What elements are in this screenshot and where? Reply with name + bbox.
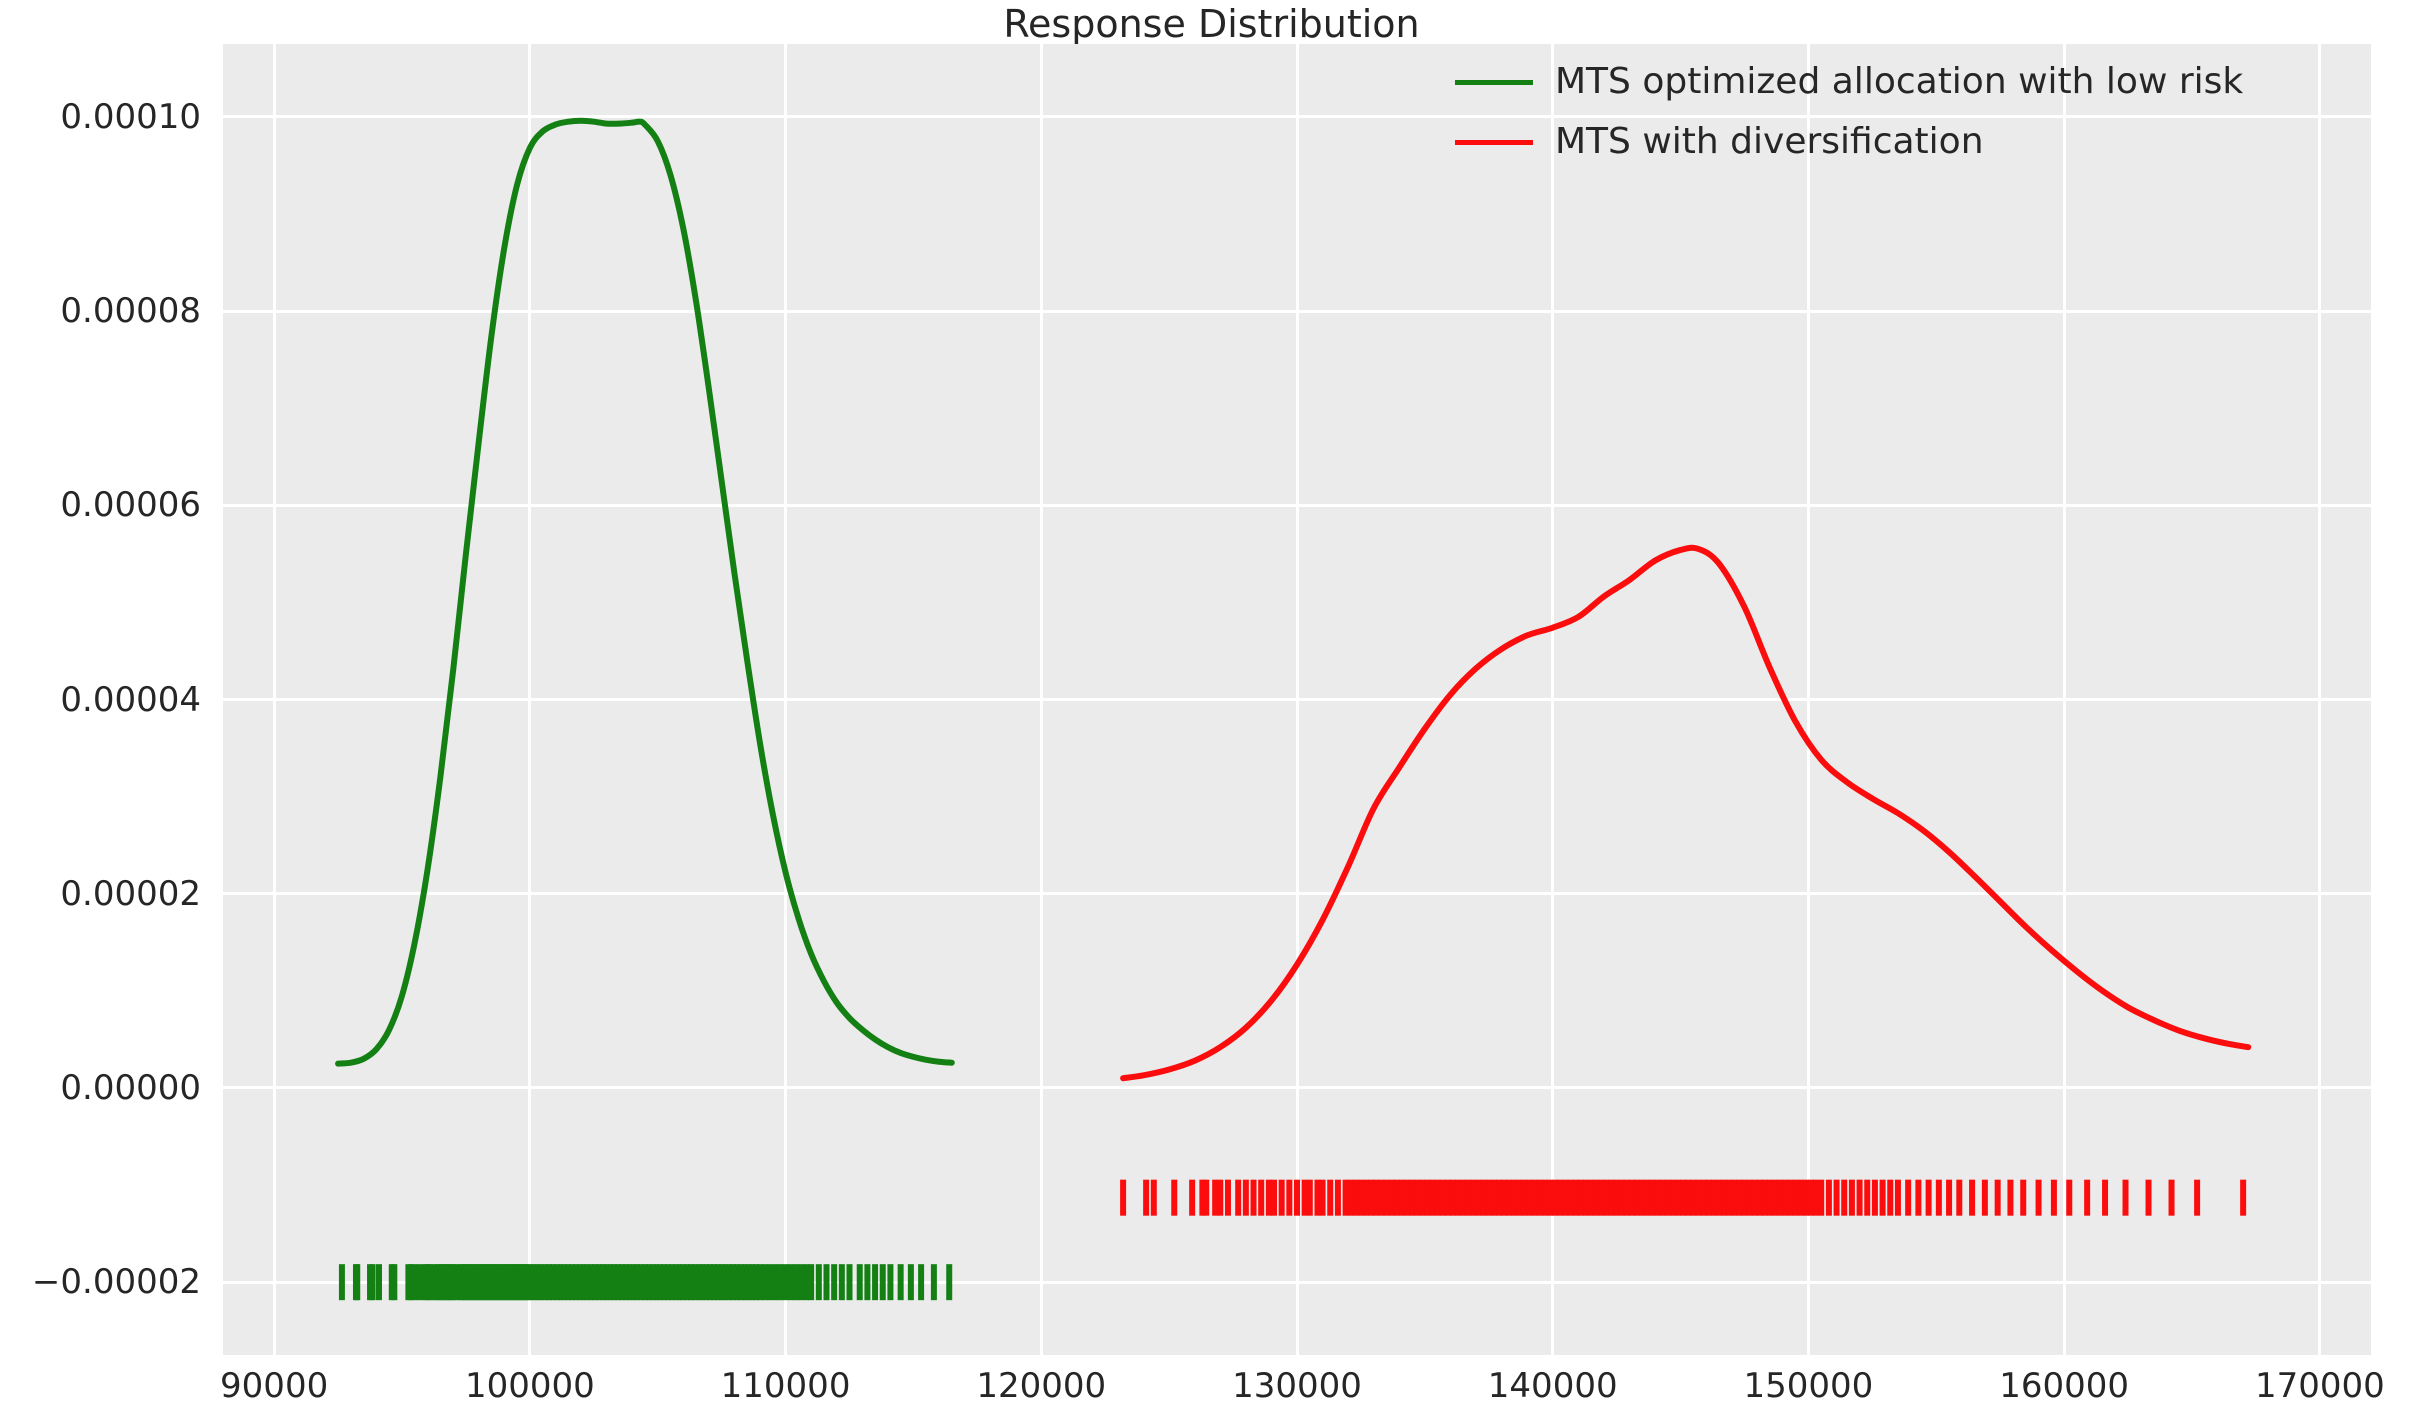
rug-tick — [1747, 1180, 1753, 1216]
rug-tick — [1818, 1180, 1824, 1216]
rug-tick — [1772, 1180, 1778, 1216]
rug-tick — [1266, 1180, 1272, 1216]
rug-tick — [1435, 1180, 1441, 1216]
rug-tick — [788, 1264, 794, 1300]
rug-tick — [1665, 1180, 1671, 1216]
rug-tick — [1225, 1180, 1231, 1216]
rug-tick — [1171, 1180, 1177, 1216]
rug-tick — [2007, 1180, 2013, 1216]
y-tick-label: 0.00004 — [0, 680, 201, 720]
rug-tick — [2123, 1180, 2129, 1216]
rug-tick — [1327, 1180, 1333, 1216]
x-tick-label: 120000 — [911, 1366, 1171, 1406]
rug-tick — [1808, 1180, 1814, 1216]
rug-tick — [1373, 1180, 1379, 1216]
rug-tick — [2051, 1180, 2057, 1216]
rug-tick — [898, 1264, 904, 1300]
rug-tick — [1445, 1180, 1451, 1216]
rug-tick — [1151, 1180, 1157, 1216]
rug-tick — [1557, 1180, 1563, 1216]
x-tick-label: 110000 — [656, 1366, 916, 1406]
rug-tick — [1450, 1180, 1456, 1216]
rug-tick — [1552, 1180, 1558, 1216]
rug-tick — [1368, 1180, 1374, 1216]
rug-tick — [1670, 1180, 1676, 1216]
rug-tick — [1547, 1180, 1553, 1216]
rug-tick — [1506, 1180, 1512, 1216]
rug-tick — [1537, 1180, 1543, 1216]
legend-item[interactable]: MTS with diversification — [1455, 116, 2243, 168]
rug-tick — [803, 1264, 809, 1300]
rug-tick — [1460, 1180, 1466, 1216]
rug-tick — [1905, 1180, 1911, 1216]
figure-canvas: Response Distribution −0.000020.000000.0… — [0, 0, 2423, 1423]
rug-tick — [1491, 1180, 1497, 1216]
rug-tick — [1343, 1180, 1349, 1216]
rug-tick — [1568, 1180, 1574, 1216]
rug-tick — [1826, 1180, 1832, 1216]
rug-tick — [1872, 1180, 1878, 1216]
rug-tick — [767, 1264, 773, 1300]
x-tick-label: 160000 — [1934, 1366, 2194, 1406]
chart-legend: MTS optimized allocation with low riskMT… — [1455, 56, 2243, 168]
rug-tick — [1358, 1180, 1364, 1216]
rug-tick — [783, 1264, 789, 1300]
rug-tick — [823, 1264, 829, 1300]
rug-tick — [1511, 1180, 1517, 1216]
rug-tick — [847, 1264, 853, 1300]
rug-tick — [1690, 1180, 1696, 1216]
rug-tick — [1609, 1180, 1615, 1216]
rug-tick — [1307, 1180, 1313, 1216]
rug-tick — [1271, 1180, 1277, 1216]
rug-tick — [1857, 1180, 1863, 1216]
rug-tick — [1675, 1180, 1681, 1216]
rug-tick — [1286, 1180, 1292, 1216]
rug-tick — [1527, 1180, 1533, 1216]
rug-tick — [1120, 1180, 1126, 1216]
rug-tick — [839, 1264, 845, 1300]
rug-tick — [1777, 1180, 1783, 1216]
rug-tick — [1624, 1180, 1630, 1216]
rug-tick — [339, 1264, 345, 1300]
rug-tick — [872, 1264, 878, 1300]
rug-tick — [1798, 1180, 1804, 1216]
rug-tick — [2146, 1180, 2152, 1216]
rug-tick — [1476, 1180, 1482, 1216]
rug-tick — [1409, 1180, 1415, 1216]
rug-tick — [1782, 1180, 1788, 1216]
rug-tick — [816, 1264, 822, 1300]
rug-tick — [1841, 1180, 1847, 1216]
rug-tick — [1793, 1180, 1799, 1216]
rug-tick — [1649, 1180, 1655, 1216]
rug-tick — [1956, 1180, 1962, 1216]
rug-tick — [2066, 1180, 2072, 1216]
rug-tick — [908, 1264, 914, 1300]
rug-tick — [1363, 1180, 1369, 1216]
rug-tick — [1982, 1180, 1988, 1216]
rug-tick — [1465, 1180, 1471, 1216]
y-tick-label: 0.00008 — [0, 291, 201, 331]
rug-tick — [1542, 1180, 1548, 1216]
rug-tick — [1634, 1180, 1640, 1216]
rug-tick — [1639, 1180, 1645, 1216]
rug-tick — [1440, 1180, 1446, 1216]
rug-tick — [1926, 1180, 1932, 1216]
x-tick-label: 140000 — [1423, 1366, 1683, 1406]
rug-tick — [1320, 1180, 1326, 1216]
rug-tick — [1936, 1180, 1942, 1216]
y-tick-label: 0.00000 — [0, 1068, 201, 1108]
rug-tick — [1762, 1180, 1768, 1216]
rug-tick — [417, 1264, 423, 1300]
rug-tick — [1887, 1180, 1893, 1216]
chart-title: Response Distribution — [0, 2, 2423, 46]
rug-tick — [1644, 1180, 1650, 1216]
rug-tick — [1721, 1180, 1727, 1216]
rug-tick — [946, 1264, 952, 1300]
rug-tick — [1563, 1180, 1569, 1216]
rug-tick — [1864, 1180, 1870, 1216]
rug-tick — [1803, 1180, 1809, 1216]
rug-tick — [1880, 1180, 1886, 1216]
rug-tick — [391, 1264, 397, 1300]
rug-tick — [1583, 1180, 1589, 1216]
rug-tick — [1314, 1180, 1320, 1216]
rug-tick — [931, 1264, 937, 1300]
rug-tick — [857, 1264, 863, 1300]
rug-tick — [1969, 1180, 1975, 1216]
rug-tick — [1384, 1180, 1390, 1216]
y-tick-label: 0.00006 — [0, 485, 201, 525]
rug-tick — [354, 1264, 360, 1300]
rug-tick — [1736, 1180, 1742, 1216]
x-tick-label: 170000 — [2190, 1366, 2423, 1406]
legend-line-swatch — [1455, 140, 1533, 145]
rug-tick — [1279, 1180, 1285, 1216]
rug-tick — [1414, 1180, 1420, 1216]
rug-tick — [1335, 1180, 1341, 1216]
rug-tick — [1603, 1180, 1609, 1216]
rug-tick — [2102, 1180, 2108, 1216]
rug-tick — [1695, 1180, 1701, 1216]
rug-tick — [1522, 1180, 1528, 1216]
rug-tick — [1834, 1180, 1840, 1216]
rug-tick — [1614, 1180, 1620, 1216]
rug-tick — [1578, 1180, 1584, 1216]
rug-tick — [1946, 1180, 1952, 1216]
rug-tick — [1588, 1180, 1594, 1216]
rug-tick — [1378, 1180, 1384, 1216]
rug-tick — [1419, 1180, 1425, 1216]
rug-tick — [880, 1264, 886, 1300]
rug-tick — [1895, 1180, 1901, 1216]
rug-tick — [1203, 1180, 1209, 1216]
rug-tick — [2020, 1180, 2026, 1216]
rug-tick — [1501, 1180, 1507, 1216]
rug-tick — [1731, 1180, 1737, 1216]
legend-label: MTS optimized allocation with low risk — [1555, 64, 2243, 100]
rug-tick — [1189, 1180, 1195, 1216]
rug-tick — [1757, 1180, 1763, 1216]
rug-tick — [2169, 1180, 2175, 1216]
rug-tick — [1598, 1180, 1604, 1216]
rug-tick — [1742, 1180, 1748, 1216]
y-tick-label: 0.00002 — [0, 874, 201, 914]
rug-tick — [1788, 1180, 1794, 1216]
rug-tick — [918, 1264, 924, 1300]
rug-tick — [1302, 1180, 1308, 1216]
rug-tick — [1995, 1180, 2001, 1216]
rug-tick — [762, 1264, 768, 1300]
rug-marks — [223, 44, 2371, 1355]
rug-tick — [1685, 1180, 1691, 1216]
legend-line-swatch — [1455, 80, 1533, 85]
rug-tick — [1455, 1180, 1461, 1216]
rug-tick — [831, 1264, 837, 1300]
rug-tick — [1752, 1180, 1758, 1216]
rug-tick — [412, 1264, 418, 1300]
rug-tick — [376, 1264, 382, 1300]
x-tick-label: 150000 — [1678, 1366, 1938, 1406]
rug-tick — [1481, 1180, 1487, 1216]
legend-label: MTS with diversification — [1555, 124, 1984, 160]
rug-tick — [1251, 1180, 1257, 1216]
plot-area — [223, 44, 2371, 1355]
rug-tick — [2194, 1180, 2200, 1216]
rug-tick — [1217, 1180, 1223, 1216]
rug-tick — [1235, 1180, 1241, 1216]
rug-tick — [2240, 1180, 2246, 1216]
rug-tick — [887, 1264, 893, 1300]
rug-tick — [1496, 1180, 1502, 1216]
legend-item[interactable]: MTS optimized allocation with low risk — [1455, 56, 2243, 108]
rug-tick — [1394, 1180, 1400, 1216]
rug-tick — [1767, 1180, 1773, 1216]
rug-tick — [1353, 1180, 1359, 1216]
rug-tick — [1849, 1180, 1855, 1216]
rug-tick — [1430, 1180, 1436, 1216]
rug-tick — [1404, 1180, 1410, 1216]
rug-tick — [1701, 1180, 1707, 1216]
rug-tick — [757, 1264, 763, 1300]
rug-tick — [1486, 1180, 1492, 1216]
rug-tick — [777, 1264, 783, 1300]
rug-tick — [1813, 1180, 1819, 1216]
rug-tick — [1726, 1180, 1732, 1216]
rug-tick — [1389, 1180, 1395, 1216]
rug-tick — [1143, 1180, 1149, 1216]
rug-tick — [793, 1264, 799, 1300]
rug-tick — [1399, 1180, 1405, 1216]
rug-tick — [1711, 1180, 1717, 1216]
rug-tick — [1212, 1180, 1218, 1216]
rug-tick — [772, 1264, 778, 1300]
rug-tick — [1470, 1180, 1476, 1216]
rug-tick — [1424, 1180, 1430, 1216]
y-tick-label: −0.00002 — [0, 1262, 201, 1302]
rug-tick — [808, 1264, 814, 1300]
rug-tick — [1915, 1180, 1921, 1216]
rug-tick — [1243, 1180, 1249, 1216]
rug-tick — [1593, 1180, 1599, 1216]
rug-tick — [1660, 1180, 1666, 1216]
rug-tick — [1573, 1180, 1579, 1216]
rug-tick — [1716, 1180, 1722, 1216]
rug-tick — [370, 1264, 376, 1300]
rug-tick — [798, 1264, 804, 1300]
rug-tick — [1516, 1180, 1522, 1216]
rug-tick — [1655, 1180, 1661, 1216]
y-tick-label: 0.00010 — [0, 97, 201, 137]
rug-tick — [1294, 1180, 1300, 1216]
rug-tick — [1348, 1180, 1354, 1216]
x-tick-label: 90000 — [144, 1366, 404, 1406]
rug-tick — [1680, 1180, 1686, 1216]
rug-tick — [1532, 1180, 1538, 1216]
rug-tick — [1619, 1180, 1625, 1216]
rug-tick — [2084, 1180, 2090, 1216]
rug-tick — [2036, 1180, 2042, 1216]
rug-tick — [1706, 1180, 1712, 1216]
x-tick-label: 100000 — [400, 1366, 660, 1406]
x-tick-label: 130000 — [1167, 1366, 1427, 1406]
rug-tick — [864, 1264, 870, 1300]
rug-tick — [1258, 1180, 1264, 1216]
rug-tick — [1629, 1180, 1635, 1216]
